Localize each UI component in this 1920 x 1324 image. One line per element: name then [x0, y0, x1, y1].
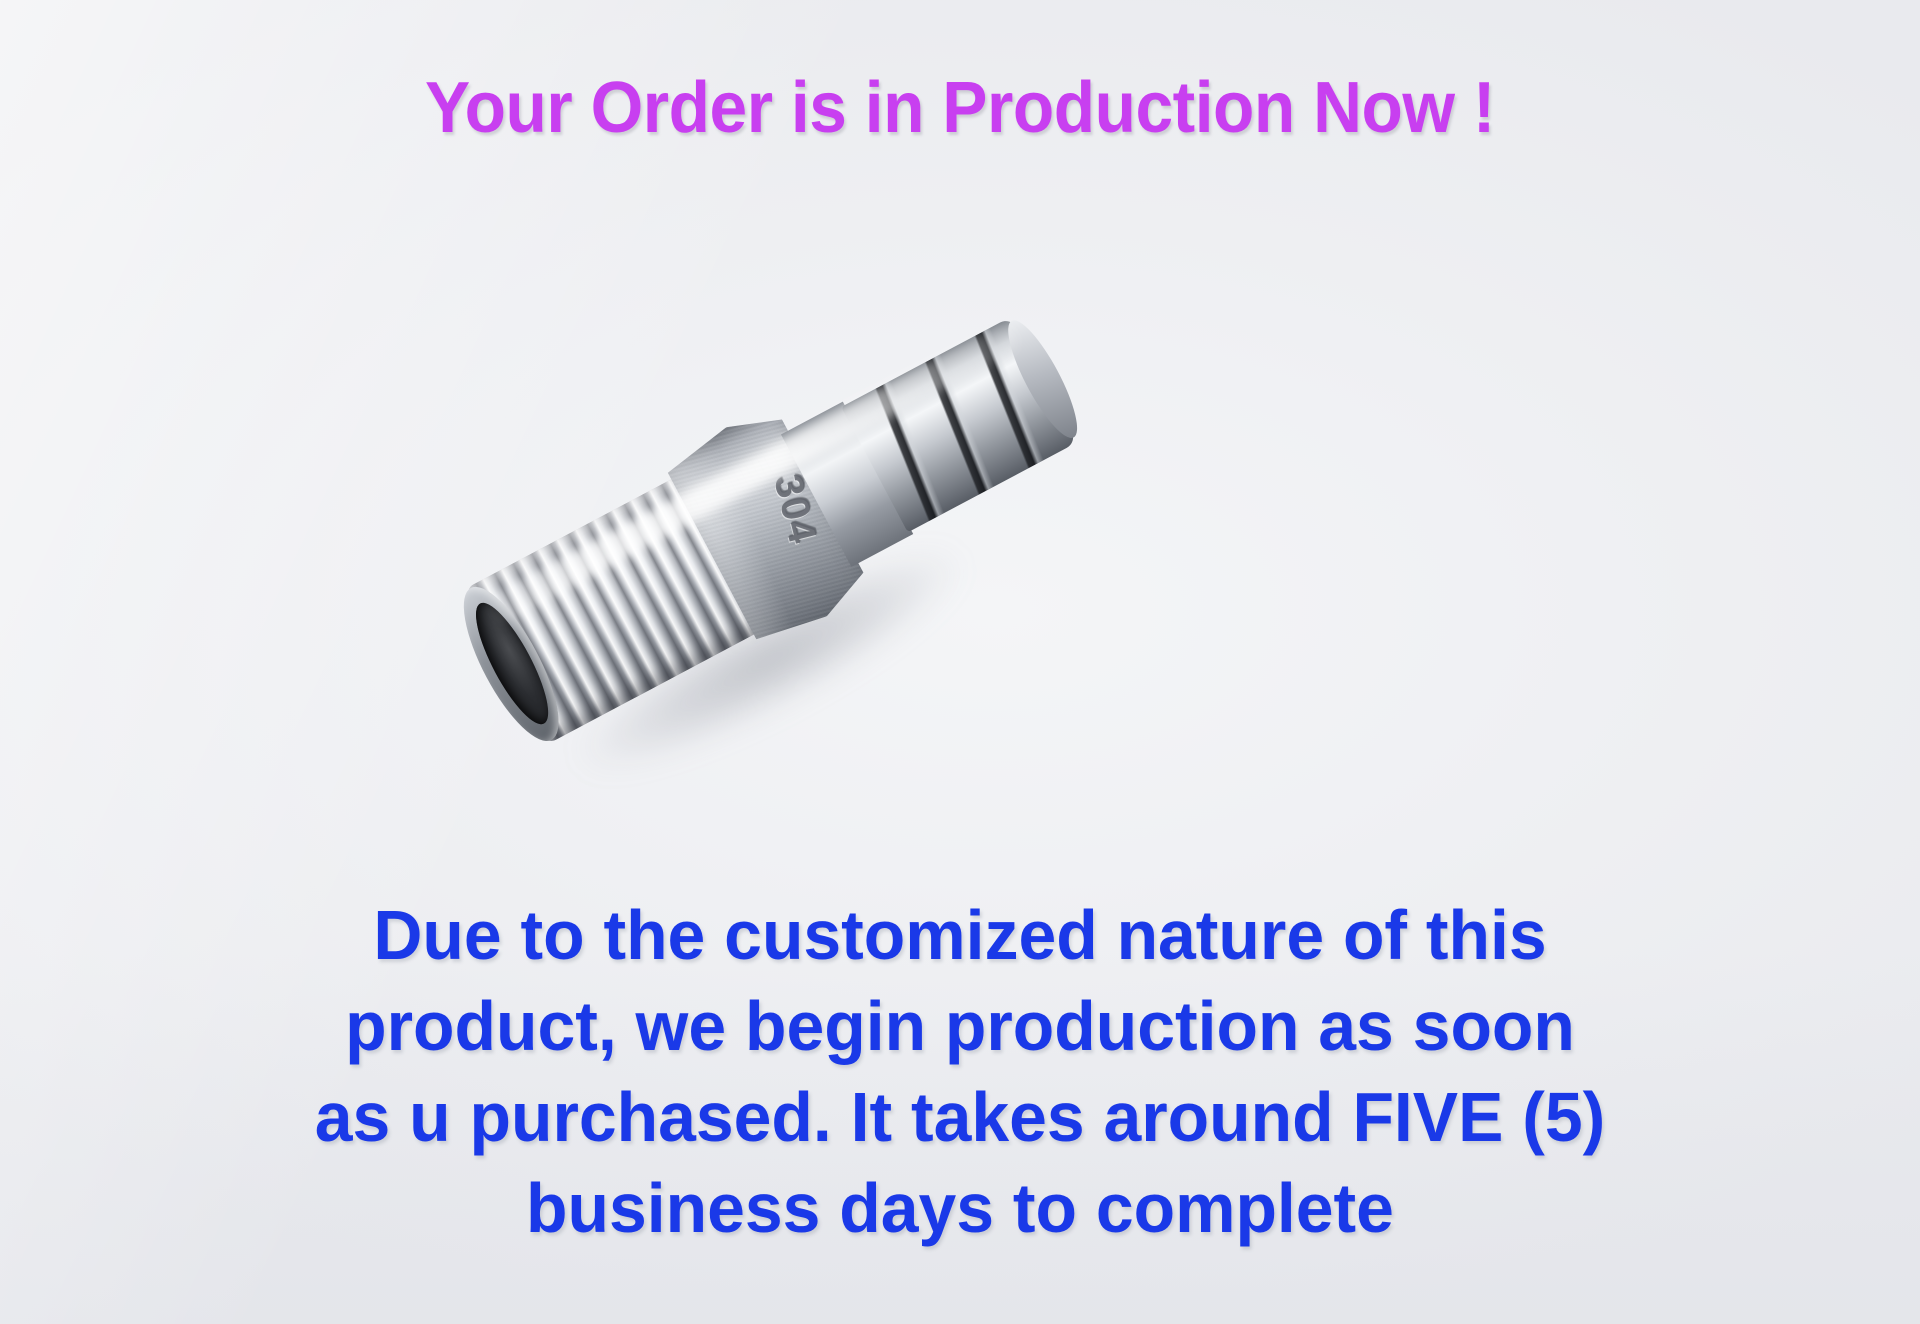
notice-line: Due to the customized nature of this	[233, 890, 1688, 981]
production-notice: Due to the customized nature of this pro…	[233, 890, 1688, 1254]
page-title: Your Order is in Production Now !	[58, 72, 1863, 144]
notice-line: as u purchased. It takes around FIVE (5)	[233, 1072, 1688, 1163]
notice-line: product, we begin production as soon	[233, 981, 1688, 1072]
hose-barb-fitting: 304	[348, 119, 1133, 809]
product-photo: 304	[470, 300, 1130, 730]
announcement-image: Your Order is in Production Now ! 304 Du…	[0, 0, 1920, 1324]
notice-line: business days to complete	[233, 1163, 1688, 1254]
